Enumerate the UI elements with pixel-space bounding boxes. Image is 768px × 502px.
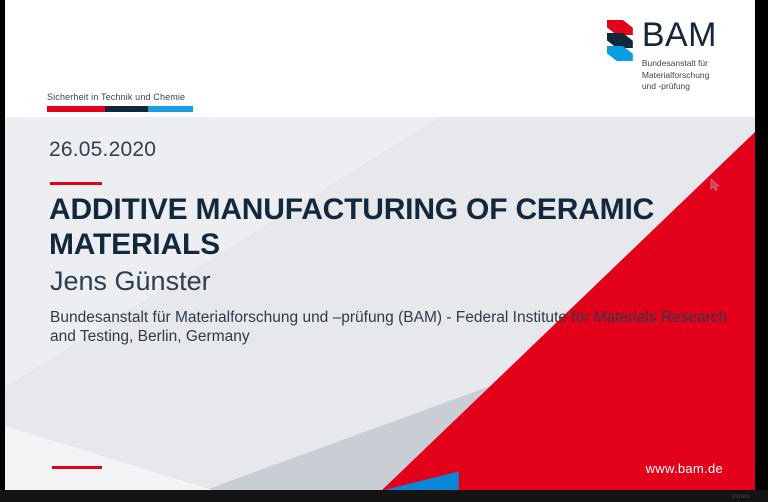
player-right-letterbox xyxy=(755,0,768,502)
slide-affiliation: Bundesanstalt für Materialforschung und … xyxy=(50,308,740,346)
bam-logo-subtitle: Bundesanstalt für Materialforschung und … xyxy=(642,58,717,93)
mouse-cursor-icon xyxy=(710,178,721,192)
bam-wordmark: BAM xyxy=(642,18,717,52)
slide-author: Jens Günster xyxy=(50,266,211,297)
slide-footer-rule xyxy=(52,466,102,469)
chevron-navy-icon xyxy=(607,33,633,48)
colorbar-segment-navy xyxy=(105,106,147,112)
slide-website-url: www.bam.de xyxy=(646,461,723,476)
player-left-letterbox xyxy=(0,0,5,502)
bam-chevron-mark-icon xyxy=(607,20,633,62)
slide-date: 26.05.2020 xyxy=(49,138,156,162)
player-watermark: vimeo xyxy=(732,494,750,500)
brand-claim: Sicherheit in Technik und Chemie xyxy=(47,92,193,112)
brand-claim-text: Sicherheit in Technik und Chemie xyxy=(47,92,193,102)
bam-logo-text: BAM Bundesanstalt für Materialforschung … xyxy=(642,18,717,93)
brand-claim-colorbar xyxy=(47,106,193,112)
colorbar-segment-blue xyxy=(148,106,193,112)
bam-logo: BAM Bundesanstalt für Materialforschung … xyxy=(607,18,717,93)
colorbar-segment-red xyxy=(47,106,105,112)
video-player: BAM Bundesanstalt für Materialforschung … xyxy=(0,0,768,502)
presentation-slide: BAM Bundesanstalt für Materialforschung … xyxy=(5,0,755,492)
chevron-red-icon xyxy=(607,20,633,35)
slide-title: ADDITIVE MANUFACTURING OF CERAMIC MATERI… xyxy=(49,192,739,262)
player-control-bar[interactable] xyxy=(0,490,768,502)
chevron-blue-icon xyxy=(607,46,633,61)
slide-date-rule xyxy=(50,182,102,185)
slide-background xyxy=(5,117,755,492)
